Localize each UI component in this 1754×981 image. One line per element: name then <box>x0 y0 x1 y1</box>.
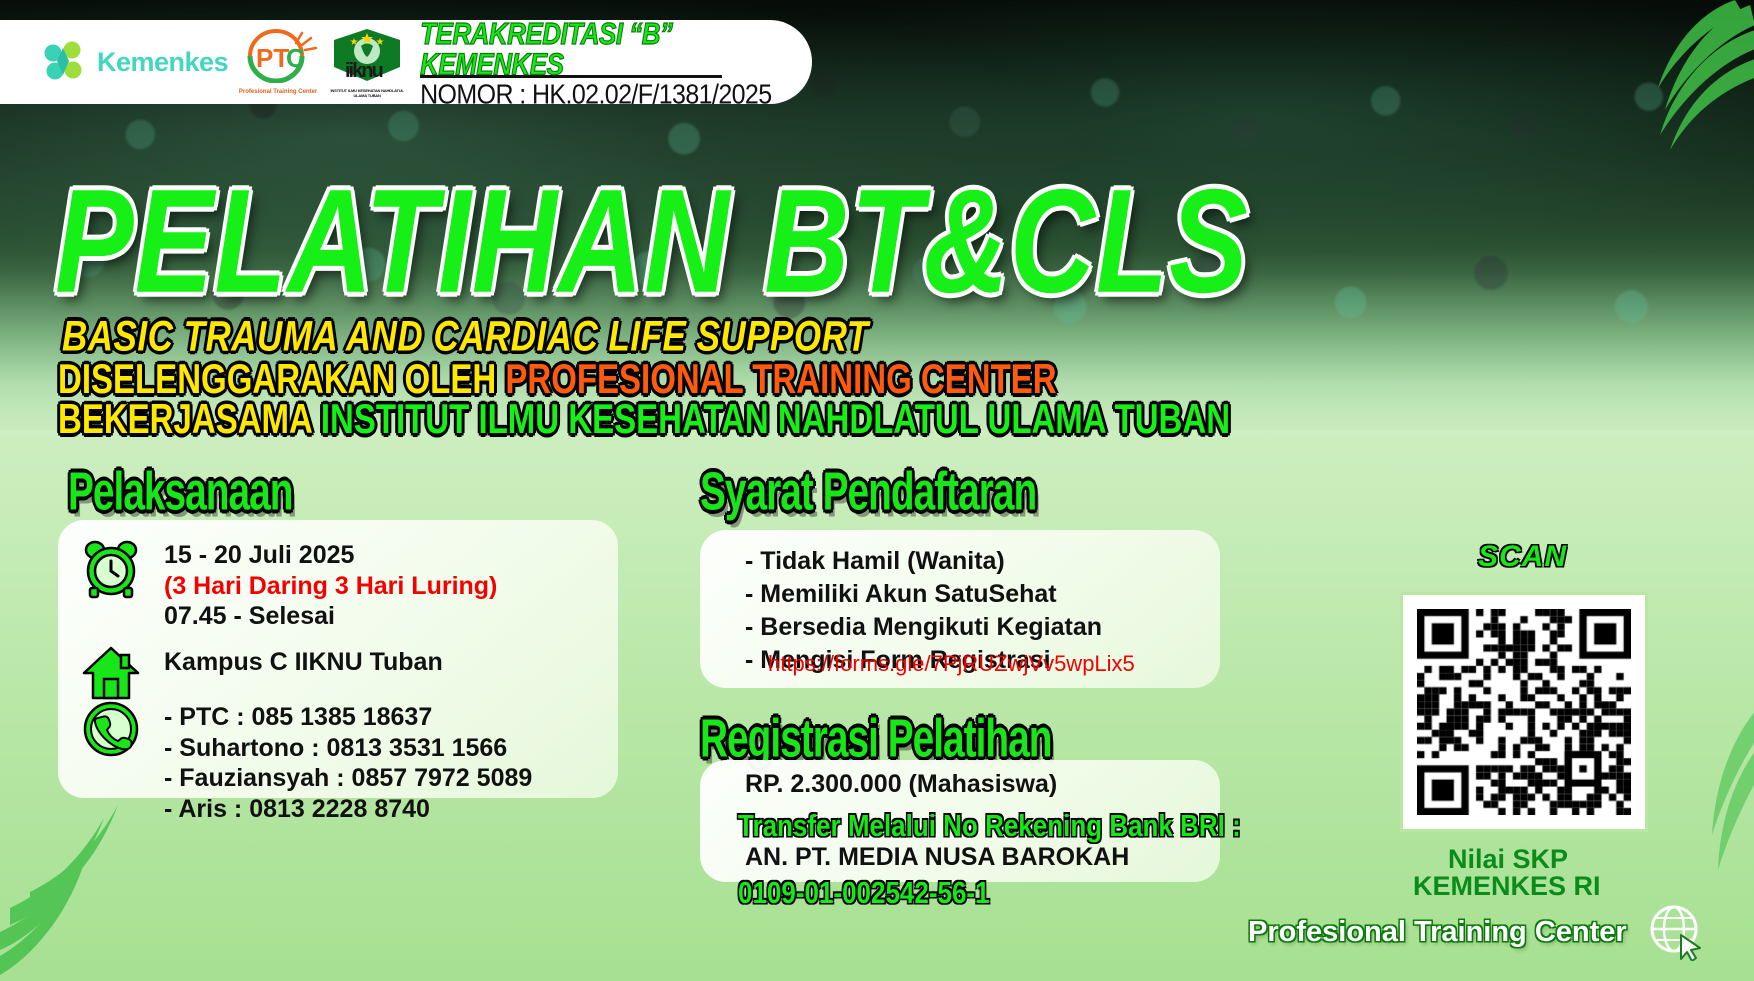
requirement-item-1: - Tidak Hamil (Wanita) <box>745 545 1102 578</box>
partner-line: BEKERJASAMA INSTITUT ILMU KESEHATAN NAHD… <box>58 398 1230 439</box>
contacts-row: - PTC : 085 1385 18637 - Suhartono : 081… <box>78 700 532 824</box>
venue-row: Kampus C IIKNU Tuban <box>78 645 443 701</box>
schedule-time: 07.45 - Selesai <box>164 601 497 632</box>
schedule-date: 15 - 20 Juli 2025 <box>164 540 497 571</box>
section-heading-registrasi: Registrasi Pelatihan <box>700 712 1052 766</box>
accreditation-headline: TERAKREDITASI “B” KEMENKES <box>420 18 812 79</box>
partner-prefix: BEKERJASAMA <box>58 396 321 442</box>
payment-transfer-note: Transfer Melalui No Rekening Bank BRI : <box>738 810 1241 841</box>
home-icon <box>78 645 144 701</box>
svg-text:iiknu: iiknu <box>345 60 382 82</box>
contact-suhartono: - Suhartono : 0813 3531 1566 <box>164 733 532 764</box>
svg-text:PT: PT <box>256 43 289 73</box>
requirement-item-3: - Bersedia Mengikuti Kegiatan <box>745 611 1102 644</box>
payment-account-name: AN. PT. MEDIA NUSA BAROKAH <box>745 845 1129 870</box>
contact-aris: - Aris : 0813 2228 8740 <box>164 794 532 825</box>
kemenkes-wordmark: Kemenkes <box>97 47 228 78</box>
qr-code[interactable] <box>1400 592 1648 832</box>
contact-ptc: - PTC : 085 1385 18637 <box>164 702 532 733</box>
scan-label: SCAN <box>1478 542 1567 572</box>
venue-name: Kampus C IIKNU Tuban <box>164 647 443 678</box>
kemenkes-mark-icon <box>42 39 88 85</box>
kemenkes-logo: Kemenkes <box>42 39 228 85</box>
phone-icon <box>78 700 144 758</box>
schedule-text: 15 - 20 Juli 2025 (3 Hari Daring 3 Hari … <box>164 538 497 632</box>
ptc-logo: PT C Profesional Training Center <box>236 29 320 95</box>
payment-account-number: 0109-01-002542-56-1 <box>738 877 990 908</box>
skp-line-2: KEMENKES RI <box>1413 872 1601 900</box>
section-heading-pelaksanaan: Pelaksanaan <box>68 465 292 519</box>
section-heading-syarat: Syarat Pendaftaran <box>700 465 1036 519</box>
registration-form-link[interactable]: https://forms.gle/7PjRUZwjVv5wpLix5 <box>768 653 1135 675</box>
schedule-mode: (3 Hari Daring 3 Hari Luring) <box>164 571 497 602</box>
globe-cursor-icon <box>1648 903 1706 961</box>
contacts-text: - PTC : 085 1385 18637 - Suhartono : 081… <box>164 700 532 824</box>
iiknu-logo-caption: INSTITUT ILMU KESEHATAN NAHDLATUL ULAMA … <box>328 88 406 98</box>
skp-line-1: Nilai SKP <box>1448 845 1568 873</box>
venue-text: Kampus C IIKNU Tuban <box>164 645 443 678</box>
partner-name: INSTITUT ILMU KESEHATAN NAHDLATUL ULAMA … <box>321 396 1230 442</box>
poster-main-title: PELATIHAN BT&CLS <box>55 168 1249 316</box>
qr-code-canvas <box>1417 609 1631 815</box>
poster-subtitle: BASIC TRAUMA AND CARDIAC LIFE SUPPORT <box>62 315 869 358</box>
accreditation-number: NOMOR : HK.02.02/F/1381/2025 <box>420 81 812 109</box>
schedule-row: 15 - 20 Juli 2025 (3 Hari Daring 3 Hari … <box>78 538 497 632</box>
contact-fauziansyah: - Fauziansyah : 0857 7972 5089 <box>164 763 532 794</box>
organizer-line: DISELENGGARAKAN OLEH PROFESIONAL TRAININ… <box>58 358 1057 399</box>
ptc-logo-caption: Profesional Training Center <box>236 89 320 95</box>
accreditation-bar: Kemenkes PT C Profesional Training Cente… <box>0 20 812 104</box>
requirement-item-2: - Memiliki Akun SatuSehat <box>745 578 1102 611</box>
accreditation-text-block: TERAKREDITASI “B” KEMENKES NOMOR : HK.02… <box>420 18 812 106</box>
footer-brand-name: Profesional Training Center <box>1248 918 1627 947</box>
payment-price: RP. 2.300.000 (Mahasiswa) <box>745 772 1057 797</box>
iiknu-logo: iiknu INSTITUT ILMU KESEHATAN NAHDLATUL … <box>328 27 406 98</box>
alarm-clock-icon <box>78 538 144 600</box>
poster-root: Kemenkes PT C Profesional Training Cente… <box>0 0 1754 981</box>
svg-text:C: C <box>286 43 305 73</box>
